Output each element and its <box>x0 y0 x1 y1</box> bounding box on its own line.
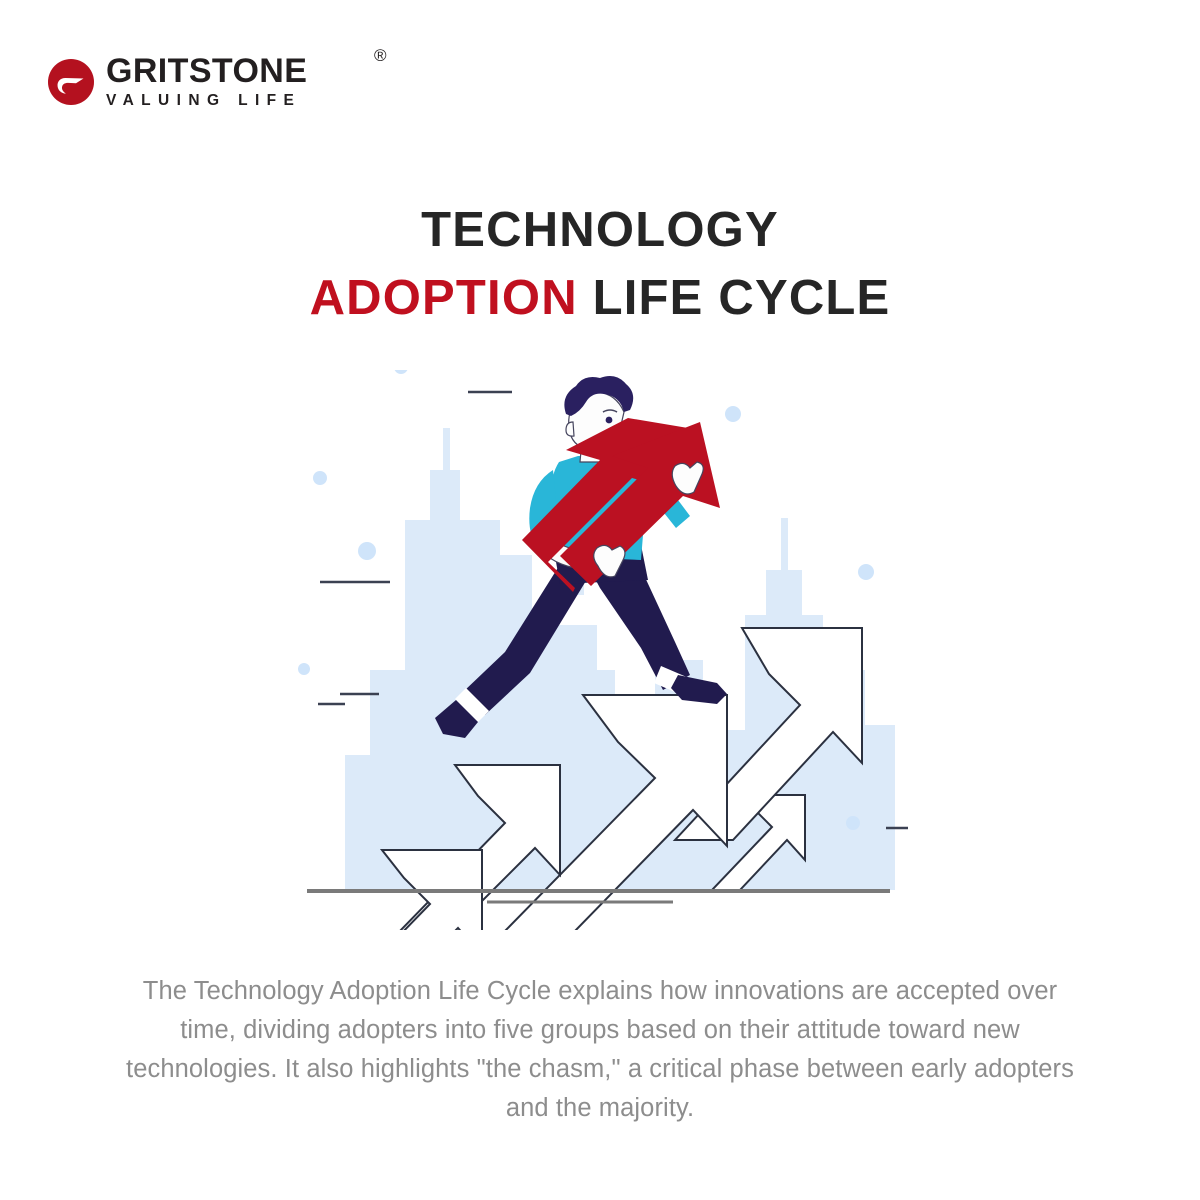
title-accent-word: ADOPTION <box>310 271 578 325</box>
brand-logo[interactable]: GRITSTONE VALUING LIFE ® <box>48 52 307 111</box>
title-line-2: ADOPTION LIFE CYCLE <box>0 264 1200 332</box>
brand-tagline: VALUING LIFE <box>106 91 307 111</box>
person-ear <box>566 422 574 436</box>
gritstone-swoosh-icon <box>48 59 94 105</box>
description-text: The Technology Adoption Life Cycle expla… <box>118 972 1082 1128</box>
title-line-1: TECHNOLOGY <box>0 196 1200 264</box>
person-eye <box>606 417 613 424</box>
page-title: TECHNOLOGY ADOPTION LIFE CYCLE <box>0 196 1200 332</box>
social-media-post: { "brand": { "logo_icon": "gritstone-swo… <box>0 0 1200 1200</box>
illustration-canvas <box>0 370 1200 930</box>
brand-name: GRITSTONE <box>106 52 307 90</box>
registered-trademark-icon: ® <box>374 46 387 66</box>
hero-illustration <box>0 370 1200 930</box>
title-line-2-rest: LIFE CYCLE <box>578 271 891 325</box>
